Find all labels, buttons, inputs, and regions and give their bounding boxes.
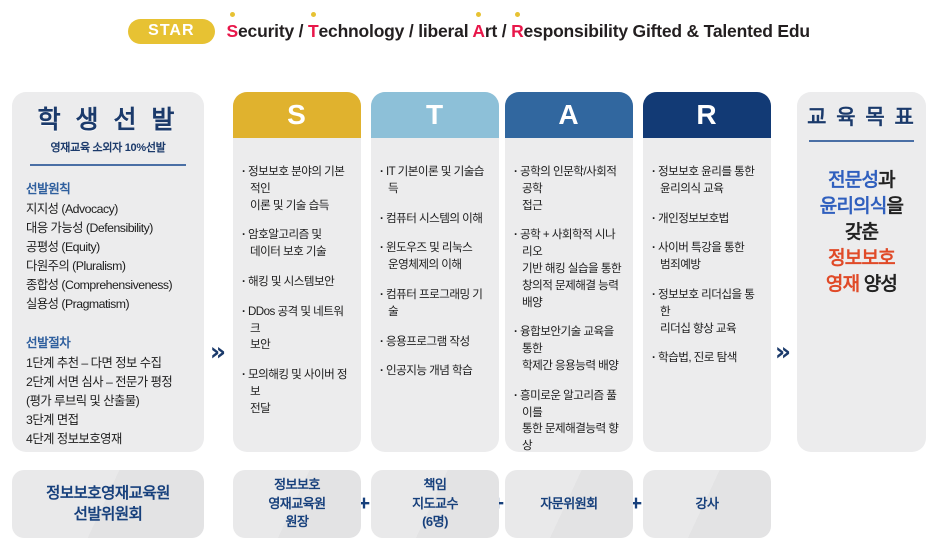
principle-item: 지지성 (Advocacy) bbox=[26, 200, 190, 219]
bullet-item: 흥미로운 알고리즘 풀이를 통한 문제해결능력 향상 bbox=[514, 388, 624, 452]
goal-segment: 윤리의식 bbox=[820, 196, 887, 217]
bullet-item: 사이버 특강을 통한 범죄예방 bbox=[652, 240, 762, 274]
main-content-row: 학 생 선 발 영재교육 소외자 10%선발 선발원칙 지지성 (Advocac… bbox=[0, 92, 938, 452]
goal-segment: 을 bbox=[887, 196, 904, 217]
column-header-s: S bbox=[233, 92, 361, 138]
bullet-item: 윈도우즈 및 리눅스 운영체제의 이해 bbox=[380, 240, 490, 274]
procedure-item: 2단계 서면 심사 – 전문가 평정 bbox=[26, 373, 190, 392]
goal-segment: 영재 bbox=[826, 274, 859, 295]
tagline-cap-t: T bbox=[308, 21, 319, 41]
goal-segment: 갖춘 bbox=[845, 222, 878, 243]
tagline-text-liberal: liberal bbox=[418, 21, 472, 41]
principle-item: 실용성 (Pragmatism) bbox=[26, 295, 190, 314]
bullet-item: IT 기본이론 및 기술습득 bbox=[380, 164, 490, 198]
organization-row: 정보보호영재교육원 선발위원회 + 정보보호 영재교육원 원장 + 책임 지도교… bbox=[0, 470, 938, 538]
bullet-item: 공학의 인문학/사회적 공학 접근 bbox=[514, 164, 624, 214]
principles-heading: 선발원칙 bbox=[26, 178, 190, 197]
goal-segment: 양성 bbox=[859, 274, 897, 295]
goal-segment: 정보보호 bbox=[828, 248, 895, 269]
chevron-right-icon: » bbox=[772, 340, 794, 366]
advisory-committee-box: 자문위원회 bbox=[505, 470, 633, 538]
header-tagline: Security / Technology / liberal Art / Re… bbox=[227, 21, 810, 42]
tagline-text-security: ecurity bbox=[238, 21, 299, 41]
bullet-item: 암호알고리즘 및 데이터 보호 기술 bbox=[242, 227, 352, 261]
bullet-item: 융합보안기술 교육을 통한 학제간 응용능력 배양 bbox=[514, 324, 624, 374]
column-header-r: R bbox=[643, 92, 771, 138]
selection-title: 학 생 선 발 bbox=[26, 106, 190, 134]
goal-segment: 전문성 bbox=[828, 170, 878, 191]
bullet-item: 응용프로그램 작성 bbox=[380, 334, 490, 351]
selection-divider bbox=[30, 164, 186, 166]
lecturer-box: 강사 bbox=[643, 470, 771, 538]
goal-segment: 과 bbox=[878, 170, 895, 191]
bullet-item: 학습법, 진로 탐색 bbox=[652, 350, 762, 367]
bullet-item: 개인정보보호법 bbox=[652, 211, 762, 228]
selection-subtitle: 영재교육 소외자 10%선발 bbox=[26, 139, 190, 155]
header-bar: STAR Security / Technology / liberal Art… bbox=[0, 14, 938, 48]
tagline-text-art: rt bbox=[485, 21, 502, 41]
column-header-a: A bbox=[505, 92, 633, 138]
procedure-item: 1단계 추천 – 다면 정보 수집 bbox=[26, 354, 190, 373]
bullet-item: 정보보호 리더십을 통한 리더십 향상 교육 bbox=[652, 287, 762, 337]
director-box: 정보보호 영재교육원 원장 bbox=[233, 470, 361, 538]
star-column-s: S 정보보호 분야의 기본적인 이론 및 기술 습득 암호알고리즘 및 데이터 … bbox=[233, 92, 361, 452]
tagline-text-responsibility: esponsibility Gifted & Talented Edu bbox=[524, 21, 810, 41]
procedure-item: (평가 루브릭 및 산출물) bbox=[26, 392, 190, 411]
lead-professor-box: 책임 지도교수 (6명) bbox=[371, 470, 499, 538]
tagline-cap-a: A bbox=[472, 21, 484, 41]
column-body-a: 공학의 인문학/사회적 공학 접근 공학 + 사회학적 시나리오 기반 해킹 실… bbox=[505, 138, 633, 452]
bullet-item: 정보보호 윤리를 통한 윤리의식 교육 bbox=[652, 164, 762, 198]
bullet-item: 컴퓨터 시스템의 이해 bbox=[380, 211, 490, 228]
tagline-slash-3: / bbox=[502, 21, 511, 41]
principle-item: 다원주의 (Pluralism) bbox=[26, 257, 190, 276]
tagline-cap-r: R bbox=[511, 21, 523, 41]
procedure-item: 4단계 정보보호영재 bbox=[26, 430, 190, 449]
student-selection-panel: 학 생 선 발 영재교육 소외자 10%선발 선발원칙 지지성 (Advocac… bbox=[12, 92, 204, 452]
tagline-slash-1: / bbox=[299, 21, 308, 41]
bullet-item: 모의해킹 및 사이버 정보 전달 bbox=[242, 367, 352, 417]
bullet-item: 컴퓨터 프로그래밍 기술 bbox=[380, 287, 490, 321]
education-goal-panel: 교 육 목 표 전문성과 윤리의식을 갖춘 정보보호 영재 양성 bbox=[797, 92, 926, 452]
star-column-t: T IT 기본이론 및 기술습득 컴퓨터 시스템의 이해 윈도우즈 및 리눅스 … bbox=[371, 92, 499, 452]
bullet-item: 해킹 및 시스템보안 bbox=[242, 274, 352, 291]
column-body-s: 정보보호 분야의 기본적인 이론 및 기술 습득 암호알고리즘 및 데이터 보호… bbox=[233, 138, 361, 452]
star-column-r: R 정보보호 윤리를 통한 윤리의식 교육 개인정보보호법 사이버 특강을 통한… bbox=[643, 92, 771, 452]
procedure-item: 3단계 면접 bbox=[26, 411, 190, 430]
bullet-item: DDos 공격 및 네트워크 보안 bbox=[242, 304, 352, 354]
star-badge: STAR bbox=[128, 19, 214, 44]
selection-committee-box: 정보보호영재교육원 선발위원회 bbox=[12, 470, 204, 538]
procedure-heading: 선발절차 bbox=[26, 332, 190, 351]
bullet-item: 정보보호 분야의 기본적인 이론 및 기술 습득 bbox=[242, 164, 352, 214]
column-body-r: 정보보호 윤리를 통한 윤리의식 교육 개인정보보호법 사이버 특강을 통한 범… bbox=[643, 138, 771, 452]
goal-divider bbox=[809, 140, 914, 142]
principle-item: 대응 가능성 (Defensibility) bbox=[26, 219, 190, 238]
bullet-item: 공학 + 사회학적 시나리오 기반 해킹 실습을 통한 창의적 문제해결 능력 … bbox=[514, 227, 624, 311]
procedure-item: 선정추천심사위원회 bbox=[26, 450, 190, 452]
chevron-right-icon: » bbox=[207, 340, 229, 366]
column-body-t: IT 기본이론 및 기술습득 컴퓨터 시스템의 이해 윈도우즈 및 리눅스 운영… bbox=[371, 138, 499, 452]
column-header-t: T bbox=[371, 92, 499, 138]
principle-item: 종합성 (Comprehensiveness) bbox=[26, 276, 190, 295]
bullet-item: 인공지능 개념 학습 bbox=[380, 363, 490, 380]
goal-title: 교 육 목 표 bbox=[807, 106, 916, 130]
tagline-slash-2: / bbox=[409, 21, 418, 41]
tagline-text-technology: echnology bbox=[319, 21, 409, 41]
tagline-cap-s: S bbox=[227, 21, 238, 41]
principle-item: 공평성 (Equity) bbox=[26, 238, 190, 257]
star-column-a: A 공학의 인문학/사회적 공학 접근 공학 + 사회학적 시나리오 기반 해킹… bbox=[505, 92, 633, 452]
section-spacer bbox=[26, 314, 190, 332]
goal-statement: 전문성과 윤리의식을 갖춘 정보보호 영재 양성 bbox=[807, 168, 916, 299]
